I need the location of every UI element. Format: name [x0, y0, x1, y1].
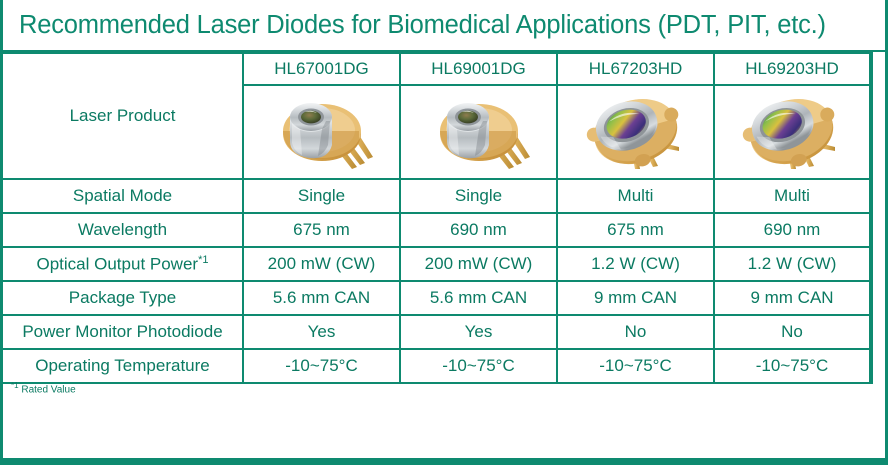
cell-value: -10~75°C: [243, 349, 400, 383]
product-image-cell-4: [714, 85, 871, 179]
row-label-spatial-mode: Spatial Mode: [3, 179, 243, 213]
specification-table: Laser Product HL67001DG HL69001DG HL6720…: [3, 52, 873, 384]
product-image-cell-2: [400, 85, 557, 179]
corner-label-laser-product: Laser Product: [3, 53, 243, 179]
cell-value: 9 mm CAN: [714, 281, 871, 315]
cell-value: Yes: [400, 315, 557, 349]
cell-value: Multi: [557, 179, 714, 213]
cell-value: 5.6 mm CAN: [400, 281, 557, 315]
product-name-cell-4: HL69203HD: [714, 53, 871, 85]
table-row: Package Type 5.6 mm CAN 5.6 mm CAN 9 mm …: [3, 281, 871, 315]
cell-value: 5.6 mm CAN: [243, 281, 400, 315]
footnote-marker-symbol: *1: [11, 381, 19, 390]
title-bar: Recommended Laser Diodes for Biomedical …: [3, 0, 885, 52]
cell-value: -10~75°C: [557, 349, 714, 383]
cell-value: No: [714, 315, 871, 349]
laser-diode-9mm-can-icon: [558, 86, 713, 178]
footnote: *1 Rated Value: [11, 381, 76, 395]
diode-9mm-svg-2: [731, 89, 853, 175]
product-image-cell-3: [557, 85, 714, 179]
row-label-text: Optical Output Power: [37, 254, 199, 273]
cell-value: 1.2 W (CW): [557, 247, 714, 281]
row-label-text: Operating Temperature: [35, 356, 210, 375]
cell-value: Single: [243, 179, 400, 213]
table-row: Power Monitor Photodiode Yes Yes No No: [3, 315, 871, 349]
diode-9mm-svg: [575, 89, 697, 175]
product-name-cell-2: HL69001DG: [400, 53, 557, 85]
product-name-cell-3: HL67203HD: [557, 53, 714, 85]
row-label-power-monitor-photodiode: Power Monitor Photodiode: [3, 315, 243, 349]
row-label-wavelength: Wavelength: [3, 213, 243, 247]
cell-value: 9 mm CAN: [557, 281, 714, 315]
diode-5p6-svg: [256, 89, 388, 175]
cell-value: 675 nm: [243, 213, 400, 247]
cell-value: 690 nm: [714, 213, 871, 247]
row-label-text: Spatial Mode: [73, 186, 172, 205]
cell-value: 675 nm: [557, 213, 714, 247]
row-label-text: Wavelength: [78, 220, 167, 239]
table-row: Operating Temperature -10~75°C -10~75°C …: [3, 349, 871, 383]
footnote-marker: *1: [198, 254, 208, 266]
row-label-package-type: Package Type: [3, 281, 243, 315]
table-row: Optical Output Power*1 200 mW (CW) 200 m…: [3, 247, 871, 281]
spec-sheet-page: Recommended Laser Diodes for Biomedical …: [0, 0, 888, 465]
laser-diode-9mm-can-icon: [715, 86, 869, 178]
cell-value: 200 mW (CW): [400, 247, 557, 281]
cell-value: Yes: [243, 315, 400, 349]
row-label-text: Package Type: [69, 288, 176, 307]
row-label-operating-temperature: Operating Temperature: [3, 349, 243, 383]
cell-value: 1.2 W (CW): [714, 247, 871, 281]
cell-value: Single: [400, 179, 557, 213]
cell-value: 690 nm: [400, 213, 557, 247]
table-row: Spatial Mode Single Single Multi Multi: [3, 179, 871, 213]
footnote-text: Rated Value: [19, 384, 76, 395]
row-label-optical-output-power: Optical Output Power*1: [3, 247, 243, 281]
laser-diode-5p6mm-can-icon: [401, 86, 556, 178]
cell-value: -10~75°C: [714, 349, 871, 383]
row-label-text: Power Monitor Photodiode: [22, 322, 222, 341]
cell-value: No: [557, 315, 714, 349]
diode-5p6-svg-2: [413, 89, 545, 175]
spec-table-body: Laser Product HL67001DG HL69001DG HL6720…: [3, 53, 871, 383]
product-name-cell-1: HL67001DG: [243, 53, 400, 85]
cell-value: -10~75°C: [400, 349, 557, 383]
product-image-cell-1: [243, 85, 400, 179]
table-row: Wavelength 675 nm 690 nm 675 nm 690 nm: [3, 213, 871, 247]
table-row-product-names: Laser Product HL67001DG HL69001DG HL6720…: [3, 53, 871, 85]
laser-diode-5p6mm-can-icon: [244, 86, 399, 178]
cell-value: 200 mW (CW): [243, 247, 400, 281]
page-title: Recommended Laser Diodes for Biomedical …: [3, 11, 826, 40]
cell-value: Multi: [714, 179, 871, 213]
